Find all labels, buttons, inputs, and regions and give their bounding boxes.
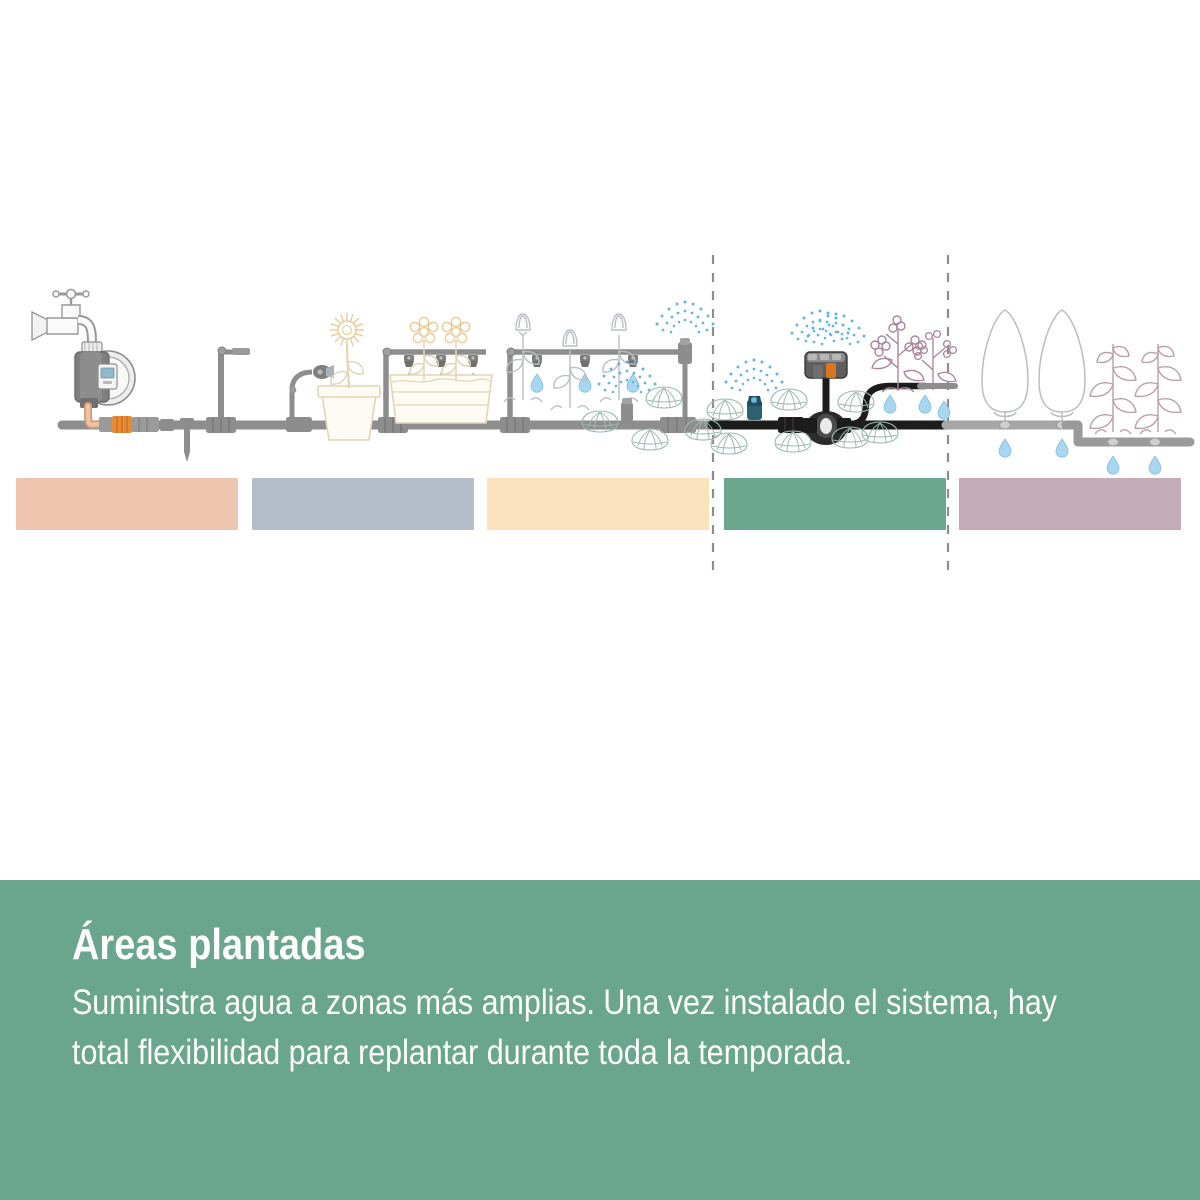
garden-tap: [32, 290, 102, 356]
water-drop: [531, 374, 543, 392]
legend-bar-cream: [487, 478, 709, 530]
info-panel-body: Suministra agua a zonas más amplias. Una…: [72, 978, 1099, 1077]
info-panel-title: Áreas plantadas: [72, 922, 980, 968]
leafy-shrubs: [1090, 344, 1181, 434]
water-drop: [999, 439, 1011, 457]
berry-shrub: [851, 316, 956, 424]
spray-pattern: [791, 310, 850, 343]
legend-bar-green: [724, 478, 946, 530]
adjustable-dripper: [580, 355, 590, 367]
spray-pattern: [656, 301, 715, 334]
rose-bed: [500, 301, 715, 434]
water-drop: [919, 395, 931, 413]
riser-connector-1: [206, 347, 250, 433]
micro-sprinkler-a: [598, 361, 657, 423]
oscillating-sprinkler: [725, 359, 784, 421]
hose-connector: [99, 416, 174, 433]
water-timer: [75, 351, 135, 408]
spray-pattern: [725, 359, 784, 392]
water-drop: [1107, 456, 1119, 474]
water-drop: [579, 374, 591, 392]
info-panel: Áreas plantadas Suministra agua a zonas …: [0, 880, 1200, 1200]
water-drop: [884, 395, 896, 413]
planter-box: [378, 317, 492, 433]
legend-bar-blue: [252, 478, 474, 530]
conifer-trees: [982, 310, 1085, 457]
irrigation-diagram: [0, 0, 1200, 880]
irrigation-diagram-svg: [0, 0, 1200, 880]
ground-stake: [180, 418, 194, 462]
drip-line-lower: [1066, 425, 1190, 474]
water-drop: [1056, 439, 1068, 457]
adjustable-dripper: [404, 355, 414, 367]
water-drop: [1149, 456, 1161, 474]
legend-bar-peach: [16, 478, 238, 530]
legend-bar-mauve: [959, 478, 1181, 530]
page-root: Áreas plantadas Suministra agua a zonas …: [0, 0, 1200, 1200]
flower-pot-sunflower: [286, 313, 380, 440]
t-connector-mid: [660, 417, 696, 433]
